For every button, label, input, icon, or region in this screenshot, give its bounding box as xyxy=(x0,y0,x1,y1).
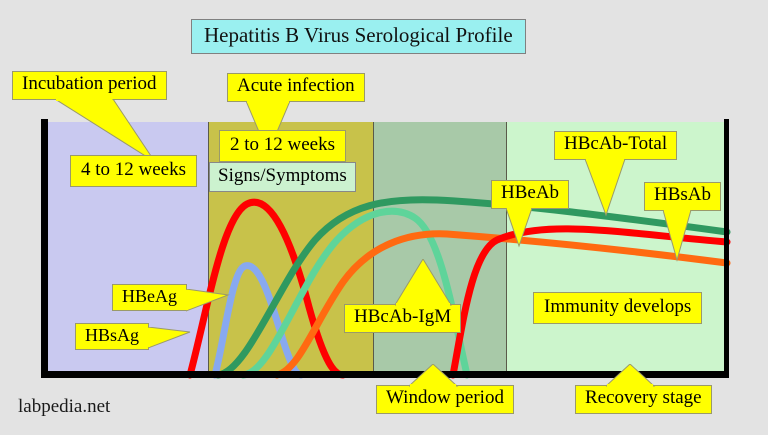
callout-hbsab-tail xyxy=(663,210,707,262)
callout-incubation-label: Incubation period xyxy=(13,72,166,99)
callout-incubation-period: Incubation period xyxy=(12,71,167,100)
callout-hbsab-label: HBsAb xyxy=(645,183,720,210)
site-watermark: labpedia.net xyxy=(18,396,110,418)
callout-hbcab-total-tail xyxy=(585,159,641,217)
callout-hbsag: HBsAg xyxy=(75,323,149,350)
axis-left xyxy=(41,119,48,378)
callout-window-period-label: Window period xyxy=(377,386,513,413)
label-acute-duration: 2 to 12 weeks xyxy=(219,130,346,162)
callout-hbeab-label: HBeAb xyxy=(492,181,568,208)
callout-hbcab-total: HBcAb-Total xyxy=(554,131,677,160)
callout-hbsag-label: HBsAg xyxy=(76,324,148,349)
callout-hbcab-total-label: HBcAb-Total xyxy=(555,132,676,159)
label-immunity-develops: Immunity develops xyxy=(533,292,702,324)
page-title: Hepatitis B Virus Serological Profile xyxy=(191,19,526,54)
callout-hbsab: HBsAb xyxy=(644,182,721,211)
callout-hbeab: HBeAb xyxy=(491,180,569,209)
callout-incubation-tail xyxy=(55,99,185,164)
callout-hbeab-tail xyxy=(506,208,546,248)
callout-window-period: Window period xyxy=(376,385,514,414)
callout-hbcab-igm-tail xyxy=(395,259,457,307)
callout-hbeag: HBeAg xyxy=(112,284,187,311)
callout-hbeag-tail xyxy=(186,289,230,319)
callout-recovery-stage-label: Recovery stage xyxy=(576,386,711,413)
callout-hbcab-igm: HBcAb-IgM xyxy=(344,304,461,333)
callout-recovery-stage: Recovery stage xyxy=(575,385,712,414)
callout-hbsag-tail xyxy=(148,327,192,357)
callout-recovery-stage-tail xyxy=(606,364,658,388)
label-signs-symptoms: Signs/Symptoms xyxy=(209,162,356,192)
axis-right xyxy=(724,119,729,378)
callout-acute-label: Acute infection xyxy=(228,74,364,101)
callout-acute-infection: Acute infection xyxy=(227,73,365,102)
figure-root: Hepatitis B Virus Serological Profile In… xyxy=(0,0,768,435)
label-incubation-duration: 4 to 12 weeks xyxy=(70,155,197,187)
callout-window-period-tail xyxy=(409,364,461,388)
callout-hbeag-label: HBeAg xyxy=(113,285,186,310)
callout-hbcab-igm-label: HBcAb-IgM xyxy=(345,305,460,332)
